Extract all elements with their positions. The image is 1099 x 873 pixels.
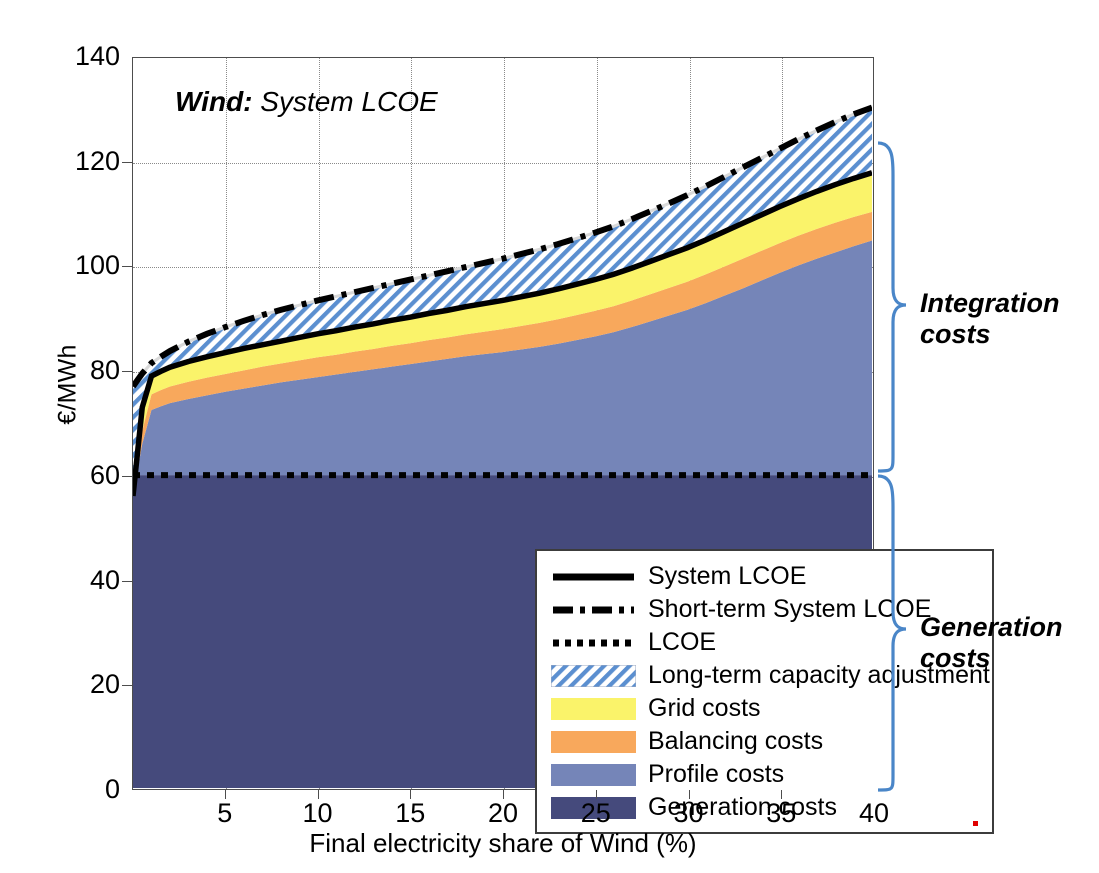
x-tick-label-35: 35 [751,800,811,827]
generation-costs-line2: costs [920,643,1063,674]
y-tickmark-20 [122,685,132,686]
x-tick-label-30: 30 [659,800,719,827]
y-tickmark-40 [122,581,132,582]
y-tickmark-80 [122,371,132,372]
x-tickmark-20 [503,790,504,799]
x-axis-label: Final electricity share of Wind (%) [132,828,874,859]
x-tickmark-35 [781,790,782,799]
x-tick-label-15: 15 [380,800,440,827]
x-tick-label-10: 10 [288,800,348,827]
y-tick-label-0: 0 [28,776,120,803]
y-tick-label-40: 40 [28,567,120,594]
x-tickmark-25 [596,790,597,799]
x-tickmark-10 [318,790,319,799]
generation-costs-line1: Generation [920,612,1063,643]
generation-costs-label: Generation costs [920,612,1063,674]
x-tick-label-20: 20 [473,800,533,827]
x-tickmark-15 [410,790,411,799]
y-tick-label-20: 20 [28,671,120,698]
y-tickmark-120 [122,162,132,163]
y-tickmark-100 [122,266,132,267]
integration-costs-label: Integration costs [920,288,1060,350]
x-tickmark-5 [225,790,226,799]
x-tick-label-25: 25 [566,800,626,827]
chart-figure: Wind: System LCOE System LCOE Short-term… [0,0,1099,873]
x-tick-label-40: 40 [844,800,904,827]
y-axis-label: €/MWh [54,295,83,475]
y-tick-label-140: 140 [28,43,120,70]
y-axis: 140 120 100 80 60 40 20 0 [0,0,1099,873]
x-tickmark-30 [689,790,690,799]
integration-costs-line2: costs [920,319,1060,350]
y-tick-label-120: 120 [28,148,120,175]
integration-costs-line1: Integration [920,288,1060,319]
y-tick-label-100: 100 [28,252,120,279]
y-tickmark-60 [122,476,132,477]
x-tick-label-5: 5 [195,800,255,827]
